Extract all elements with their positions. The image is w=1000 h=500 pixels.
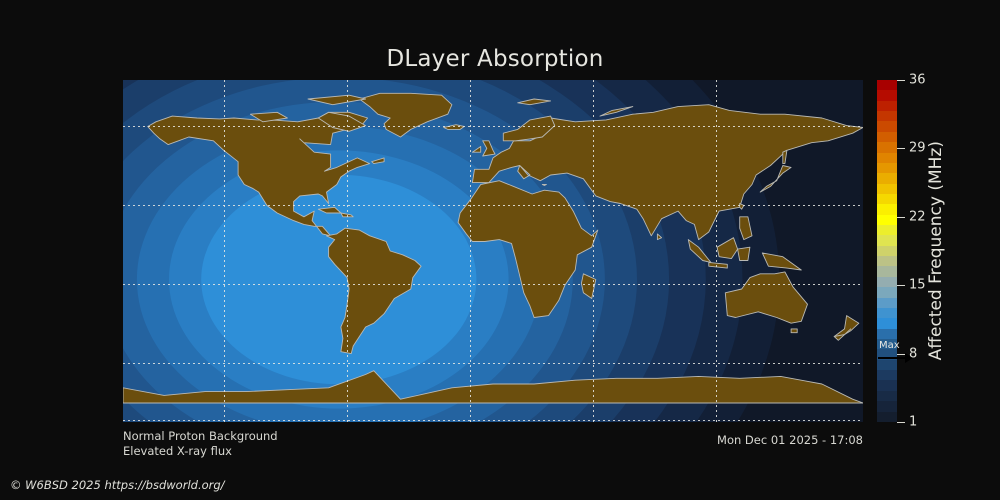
colorbar-segment [877, 380, 897, 390]
colorbar-segment [877, 266, 897, 276]
max-marker: Max [877, 341, 917, 367]
colorbar-segment [877, 235, 897, 245]
colorbar-tick-mark [897, 217, 905, 218]
colorbar-segment [877, 163, 897, 173]
colorbar-segment [877, 298, 897, 308]
landmass-sulawesi [738, 247, 750, 260]
colorbar[interactable] [877, 80, 897, 422]
max-marker-arrow-line [878, 357, 906, 359]
colorbar-segment [877, 318, 897, 328]
colorbar-segment [877, 370, 897, 380]
colorbar-segment [877, 204, 897, 214]
colorbar-segment [877, 401, 897, 411]
colorbar-tick-mark [897, 422, 905, 423]
colorbar-segment [877, 215, 897, 225]
map-geometry [123, 80, 863, 422]
colorbar-segment [877, 153, 897, 163]
colorbar-segment [877, 308, 897, 318]
colorbar-segment [877, 256, 897, 266]
colorbar-segment [877, 391, 897, 401]
max-marker-label: Max [879, 341, 900, 351]
colorbar-segment [877, 225, 897, 235]
colorbar-segment [877, 277, 897, 287]
colorbar-segment [877, 101, 897, 111]
colorbar-segment [877, 329, 897, 339]
colorbar-segment [877, 132, 897, 142]
colorbar-tick-mark [897, 148, 905, 149]
timestamp: Mon Dec 01 2025 - 17:08 [0, 433, 863, 447]
colorbar-segment [877, 142, 897, 152]
colorbar-segment [877, 246, 897, 256]
colorbar-segment [877, 412, 897, 422]
max-marker-arrow-head [905, 353, 913, 363]
copyright-notice: © W6BSD 2025 https://bsdworld.org/ [10, 478, 225, 492]
colorbar-axis-label: Affected Frequency (MHz) [916, 80, 956, 422]
colorbar-segment [877, 111, 897, 121]
colorbar-segment [877, 184, 897, 194]
colorbar-segment [877, 194, 897, 204]
colorbar-axis-label-text: Affected Frequency (MHz) [926, 141, 946, 360]
colorbar-segment [877, 121, 897, 131]
page-title: DLayer Absorption [0, 46, 990, 72]
colorbar-segment [877, 90, 897, 100]
chart-canvas: DLayer Absorption 3629221581 Affected Fr… [0, 0, 1000, 500]
colorbar-segment [877, 287, 897, 297]
colorbar-tick-mark [897, 285, 905, 286]
colorbar-segment [877, 173, 897, 183]
colorbar-tick-mark [897, 80, 905, 81]
absorption-contour [201, 175, 476, 384]
world-map [123, 80, 863, 422]
landmass-tasmania [791, 329, 797, 333]
colorbar-segment [877, 80, 897, 90]
